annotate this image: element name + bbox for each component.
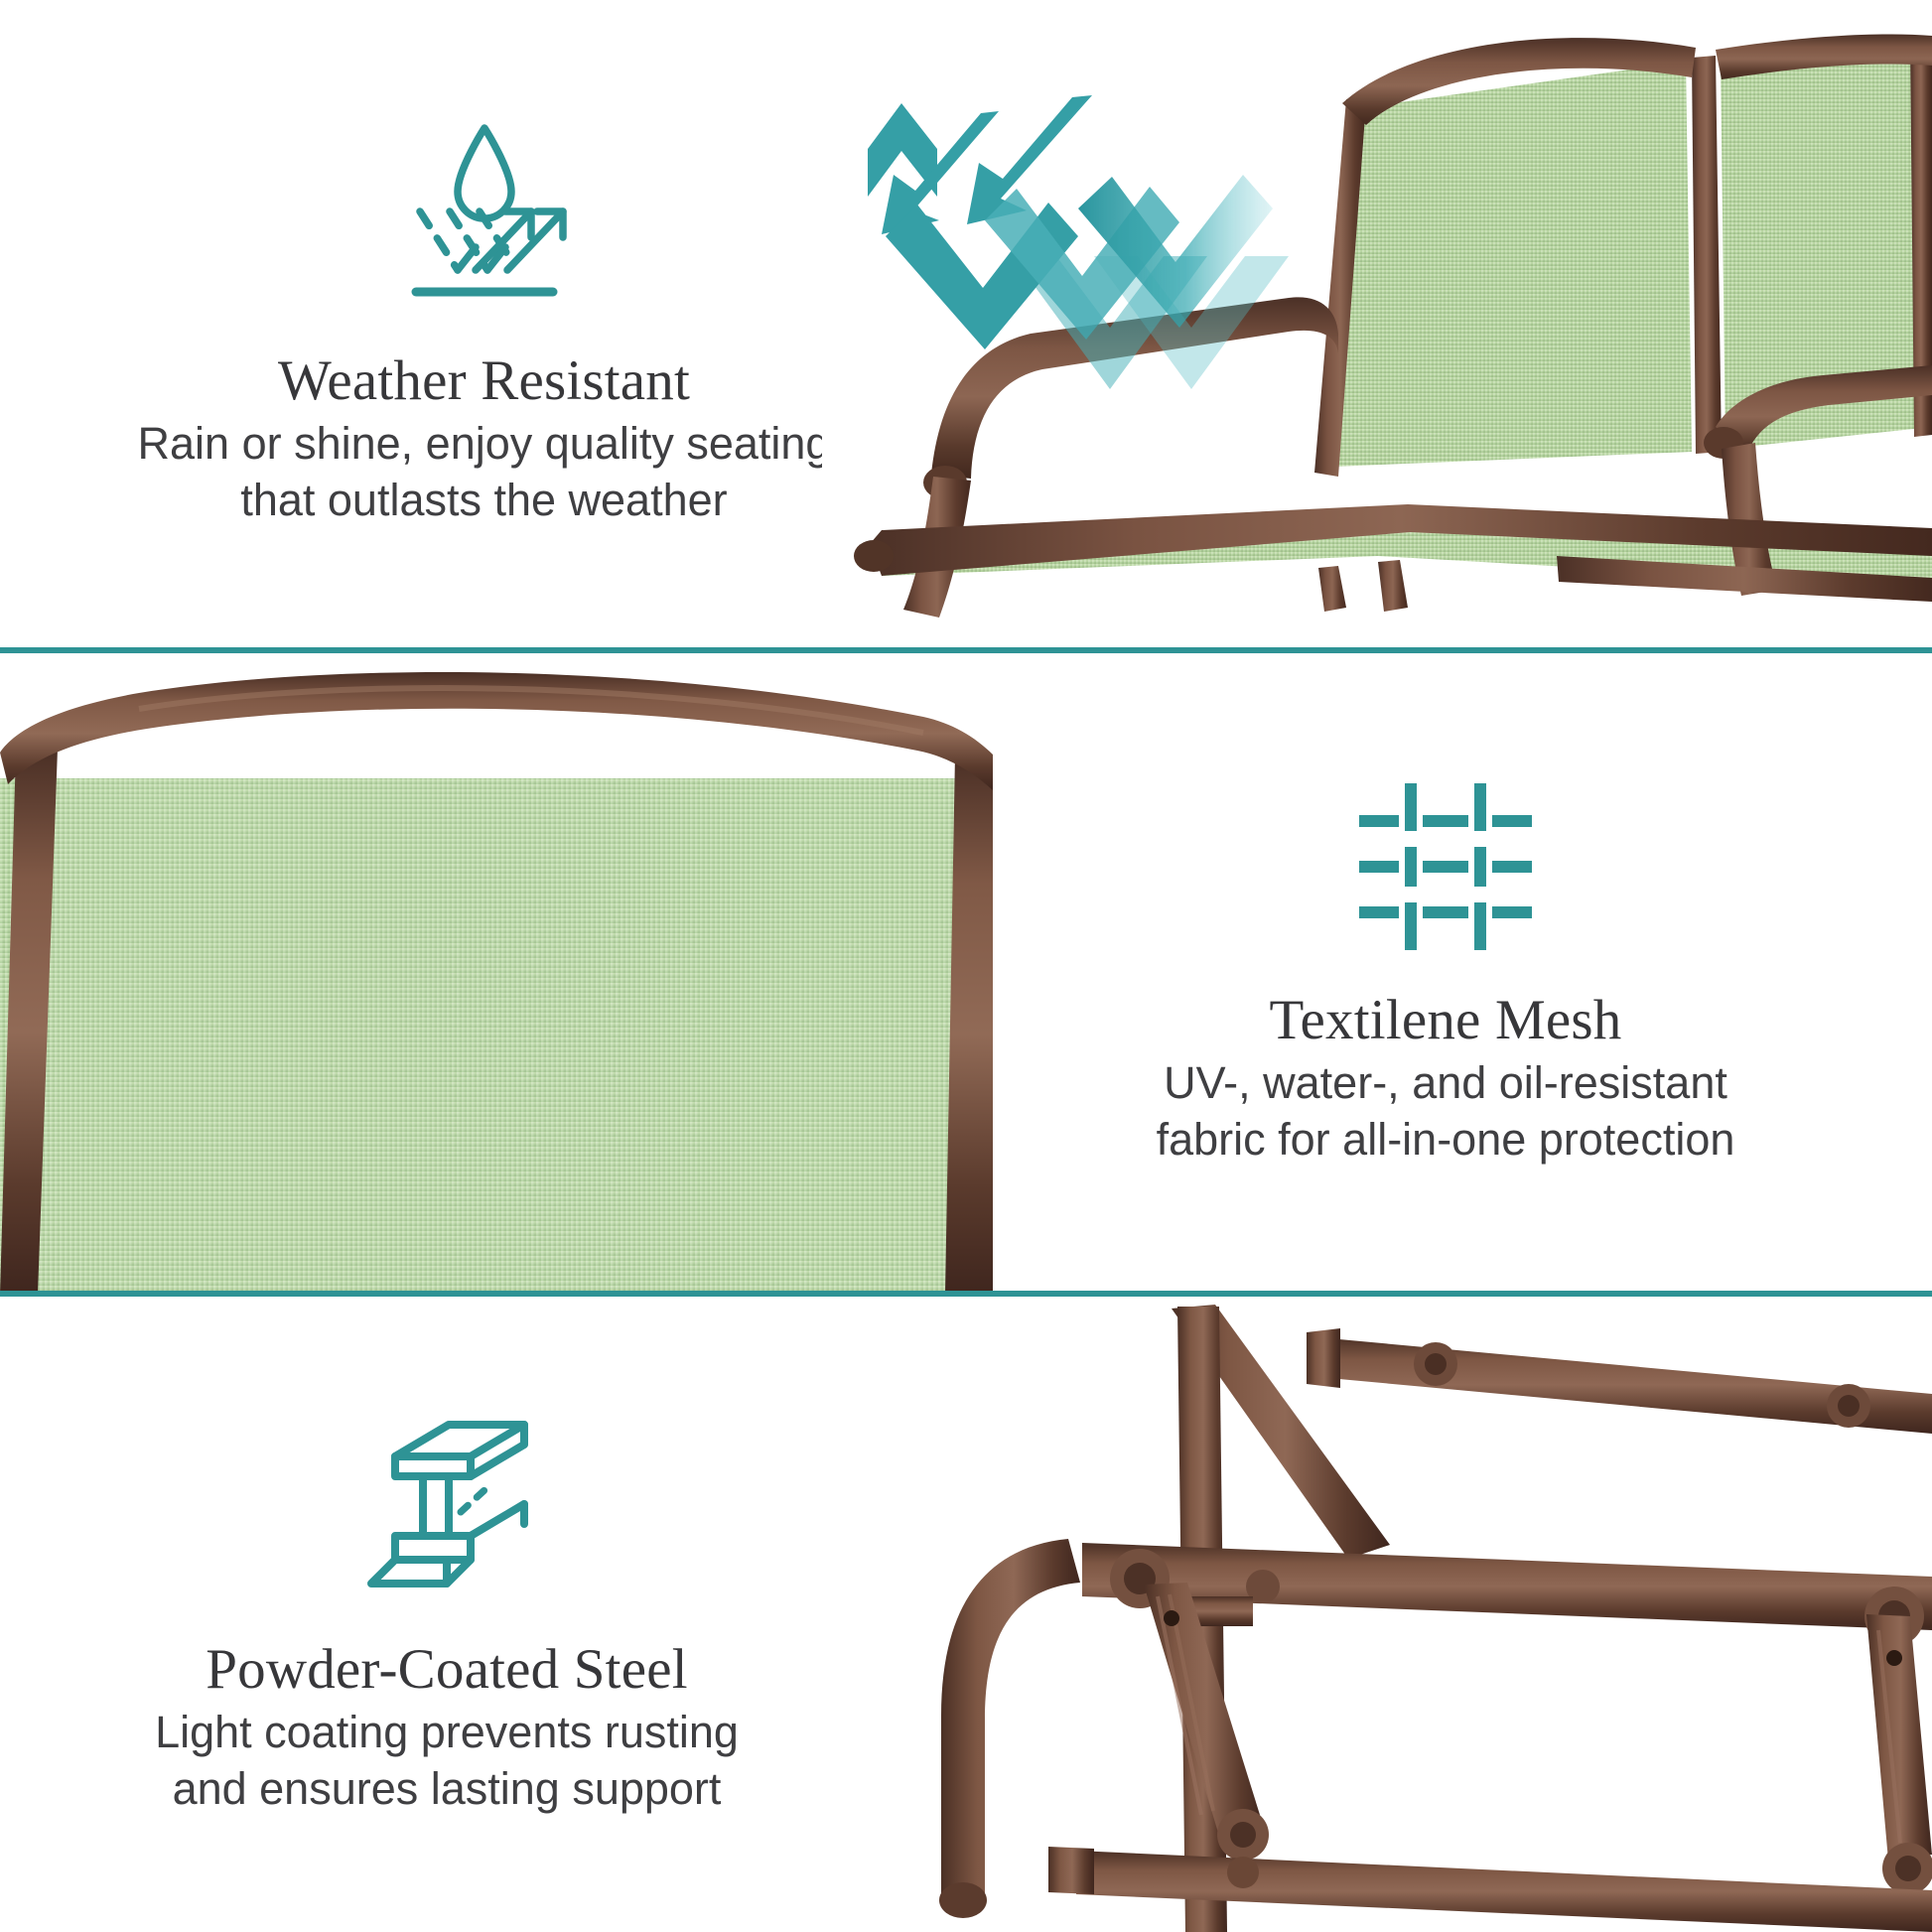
feature-text-textilene-mesh: Textilene Mesh UV-, water-, and oil-resi… <box>959 655 1932 1294</box>
feature-title: Textilene Mesh <box>1270 991 1622 1049</box>
water-repellent-icon <box>380 108 589 312</box>
mesh-fabric-closeup-photo <box>0 655 993 1294</box>
glider-frame-photo <box>874 1299 1932 1932</box>
frame-arched-top-rail <box>0 672 993 790</box>
i-beam-icon <box>357 1413 536 1596</box>
feature-description: Light coating prevents rusting and ensur… <box>155 1705 739 1817</box>
chair-backrest-left <box>1333 62 1692 467</box>
feature-title: Powder-Coated Steel <box>206 1640 687 1699</box>
feature-description-line-1: Rain or shine, enjoy quality seating <box>138 416 831 473</box>
feature-band-weather-resistant: Weather Resistant Rain or shine, enjoy q… <box>0 0 1932 650</box>
woven-mesh-icon <box>1351 775 1540 959</box>
feature-band-textilene-mesh: Textilene Mesh UV-, water-, and oil-resi… <box>0 655 1932 1294</box>
feature-description: Rain or shine, enjoy quality seating tha… <box>138 416 831 528</box>
mesh-fabric-field <box>0 778 993 1294</box>
feature-description-line-2: and ensures lasting support <box>155 1761 739 1818</box>
feature-description-line-2: that outlasts the weather <box>138 473 831 529</box>
feature-description-line-2: fabric for all-in-one protection <box>1157 1112 1735 1169</box>
feature-text-powder-coated-steel: Powder-Coated Steel Light coating preven… <box>0 1299 894 1932</box>
frame-bottom-left-foot <box>1048 1847 1094 1894</box>
frame-swing-arm-right <box>1866 1614 1932 1894</box>
band-divider-1 <box>0 647 1932 653</box>
feature-band-powder-coated-steel: Powder-Coated Steel Light coating preven… <box>0 1299 1932 1932</box>
feature-description-line-1: UV-, water-, and oil-resistant <box>1157 1055 1735 1112</box>
product-feature-infographic: Weather Resistant Rain or shine, enjoy q… <box>0 0 1932 1932</box>
feature-description-line-1: Light coating prevents rusting <box>155 1705 739 1761</box>
feature-description: UV-, water-, and oil-resistant fabric fo… <box>1157 1055 1735 1168</box>
glider-chair-photo <box>822 0 1932 650</box>
frame-upper-crossbar <box>1307 1328 1932 1434</box>
band-divider-2 <box>0 1291 1932 1297</box>
feature-title: Weather Resistant <box>278 351 690 410</box>
